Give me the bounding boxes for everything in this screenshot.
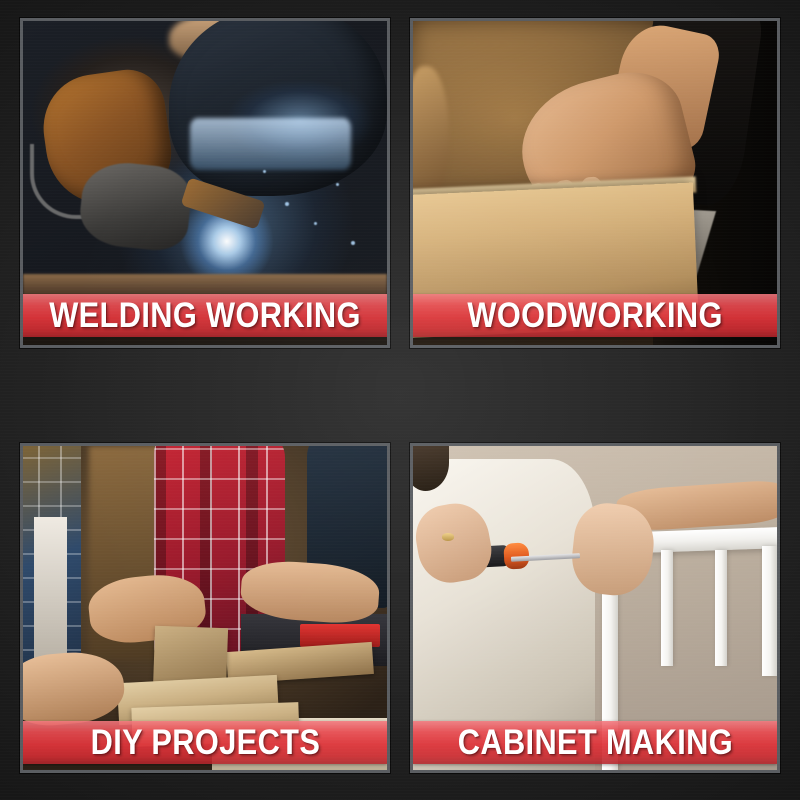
panel-label-cabinet-making: CABINET MAKING xyxy=(457,725,732,760)
helmet-visor xyxy=(190,118,350,170)
poster-title: VERSATILE APPLICATION xyxy=(0,362,800,428)
poster-title-text: VERSATILE APPLICATION xyxy=(20,362,793,428)
panel-label-diy-projects: DIY PROJECTS xyxy=(90,725,320,760)
spark-icon xyxy=(336,183,339,186)
spark-icon xyxy=(314,222,317,225)
panel-banner-welding: WELDING WORKING xyxy=(23,294,387,337)
panel-cabinet-making[interactable]: CABINET MAKING xyxy=(410,443,780,773)
panel-woodworking[interactable]: WOODWORKING xyxy=(410,18,780,348)
spark-icon xyxy=(285,202,289,206)
wedding-ring xyxy=(442,533,454,540)
panel-banner-cabinet-making: CABINET MAKING xyxy=(413,721,777,764)
panel-label-welding: WELDING WORKING xyxy=(49,298,361,333)
panel-label-woodworking: WOODWORKING xyxy=(467,298,722,333)
spark-icon xyxy=(351,241,355,245)
panel-welding[interactable]: WELDING WORKING xyxy=(20,18,390,348)
welder-second-glove xyxy=(77,158,194,253)
white-top xyxy=(34,517,67,660)
cabinet-post xyxy=(661,550,673,667)
poster: WELDING WORKING WOODWORKING xyxy=(0,0,800,800)
panel-banner-woodworking: WOODWORKING xyxy=(413,294,777,337)
panel-diy-projects[interactable]: DIY PROJECTS xyxy=(20,443,390,773)
cabinet-post xyxy=(715,550,727,667)
panel-banner-diy-projects: DIY PROJECTS xyxy=(23,721,387,764)
worker-arm xyxy=(20,648,128,729)
cabinet-post xyxy=(762,546,777,676)
